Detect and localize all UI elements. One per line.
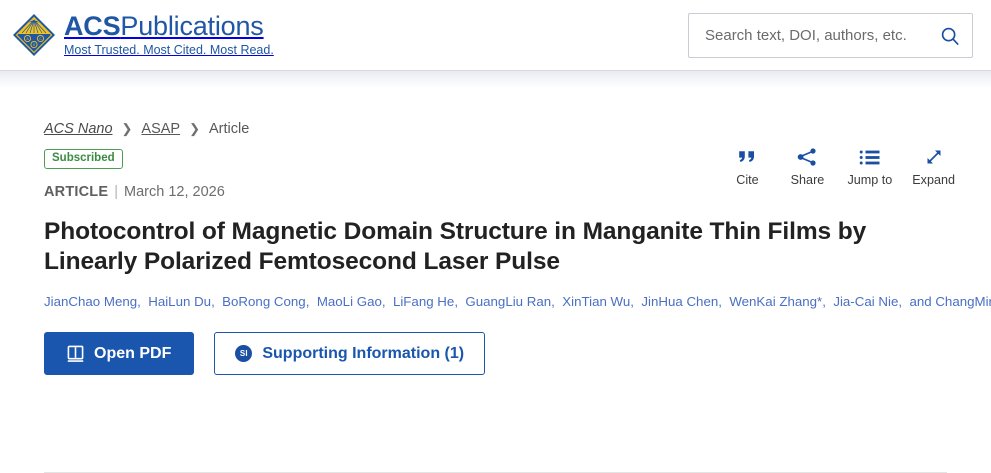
jump-to-button[interactable]: Jump to <box>847 146 892 187</box>
author-link[interactable]: WenKai Zhang* <box>729 294 822 309</box>
supporting-information-label: Supporting Information (1) <box>262 345 464 363</box>
article-header-section: ACS Nano ❯ ASAP ❯ Article Subscribed ART… <box>0 120 991 375</box>
article-date: March 12, 2026 <box>124 184 225 200</box>
expand-button[interactable]: Expand <box>912 146 955 187</box>
author-separator: , <box>382 294 393 309</box>
author-link[interactable]: Jia-Cai Nie <box>833 294 898 309</box>
breadcrumb-stage[interactable]: ASAP <box>141 121 180 137</box>
author-link[interactable]: BoRong Cong <box>222 294 306 309</box>
breadcrumb-separator-icon: ❯ <box>189 121 200 137</box>
page-title: Photocontrol of Magnetic Domain Structur… <box>44 217 924 277</box>
site-header: A C S ACSPublications Most Trusted. Most… <box>0 0 991 71</box>
author-separator: , <box>211 294 222 309</box>
brand-title: ACSPublications <box>64 12 274 41</box>
pdf-book-icon <box>67 345 84 363</box>
cite-button[interactable]: Cite <box>727 146 767 187</box>
author-separator: , <box>898 294 909 309</box>
author-link[interactable]: ChangMin Xiong* <box>935 294 991 309</box>
quote-icon <box>737 146 757 168</box>
article-action-buttons: Open PDF SI Supporting Information (1) <box>44 332 947 375</box>
search-bar[interactable] <box>688 13 973 58</box>
expand-label: Expand <box>912 173 955 187</box>
author-link[interactable]: LiFang He <box>393 294 454 309</box>
brand-title-publications: Publications <box>120 11 263 41</box>
author-separator: , <box>822 294 833 309</box>
author-separator: , <box>551 294 562 309</box>
expand-arrows-icon <box>924 146 944 168</box>
header-shadow-band <box>0 71 991 89</box>
author-conjunction: and <box>909 294 935 309</box>
breadcrumb-journal[interactable]: ACS Nano <box>44 121 113 137</box>
brand-tagline: Most Trusted. Most Cited. Most Read. <box>64 42 274 58</box>
list-icon <box>859 146 881 168</box>
acs-publications-logo[interactable]: A C S ACSPublications Most Trusted. Most… <box>8 9 274 61</box>
brand-wordmark: ACSPublications Most Trusted. Most Cited… <box>64 12 274 58</box>
meta-divider: | <box>114 184 118 200</box>
open-pdf-label: Open PDF <box>94 345 171 363</box>
search-input[interactable] <box>689 27 928 44</box>
share-button[interactable]: Share <box>787 146 827 187</box>
breadcrumb-separator-icon: ❯ <box>122 121 133 137</box>
breadcrumb-type: Article <box>209 121 249 137</box>
article-tools-toolbar: Cite Share <box>727 146 955 187</box>
jump-to-label: Jump to <box>847 173 892 187</box>
author-link[interactable]: XinTian Wu <box>562 294 630 309</box>
author-separator: , <box>137 294 148 309</box>
status-badge-subscribed: Subscribed <box>44 149 123 169</box>
author-list: JianChao Meng, HaiLun Du, BoRong Cong, M… <box>44 293 944 311</box>
author-separator: , <box>454 294 465 309</box>
author-separator: , <box>306 294 317 309</box>
si-badge-icon: SI <box>235 345 252 362</box>
search-button[interactable] <box>928 14 972 57</box>
author-link[interactable]: MaoLi Gao <box>317 294 382 309</box>
author-link[interactable]: GuangLiu Ran <box>465 294 551 309</box>
cite-label: Cite <box>736 173 758 187</box>
share-nodes-icon <box>796 146 818 168</box>
author-link[interactable]: JianChao Meng <box>44 294 137 309</box>
open-pdf-button[interactable]: Open PDF <box>44 332 194 375</box>
supporting-information-button[interactable]: SI Supporting Information (1) <box>214 332 485 375</box>
share-label: Share <box>791 173 825 187</box>
brand-title-acs: ACS <box>64 11 120 41</box>
article-type-label: ARTICLE <box>44 184 108 200</box>
author-link[interactable]: HaiLun Du <box>148 294 211 309</box>
author-separator: , <box>630 294 641 309</box>
author-separator: , <box>718 294 729 309</box>
breadcrumb: ACS Nano ❯ ASAP ❯ Article <box>44 120 947 138</box>
author-link[interactable]: JinHua Chen <box>641 294 718 309</box>
acs-diamond-icon: A C S <box>8 9 60 61</box>
search-icon <box>939 25 961 47</box>
